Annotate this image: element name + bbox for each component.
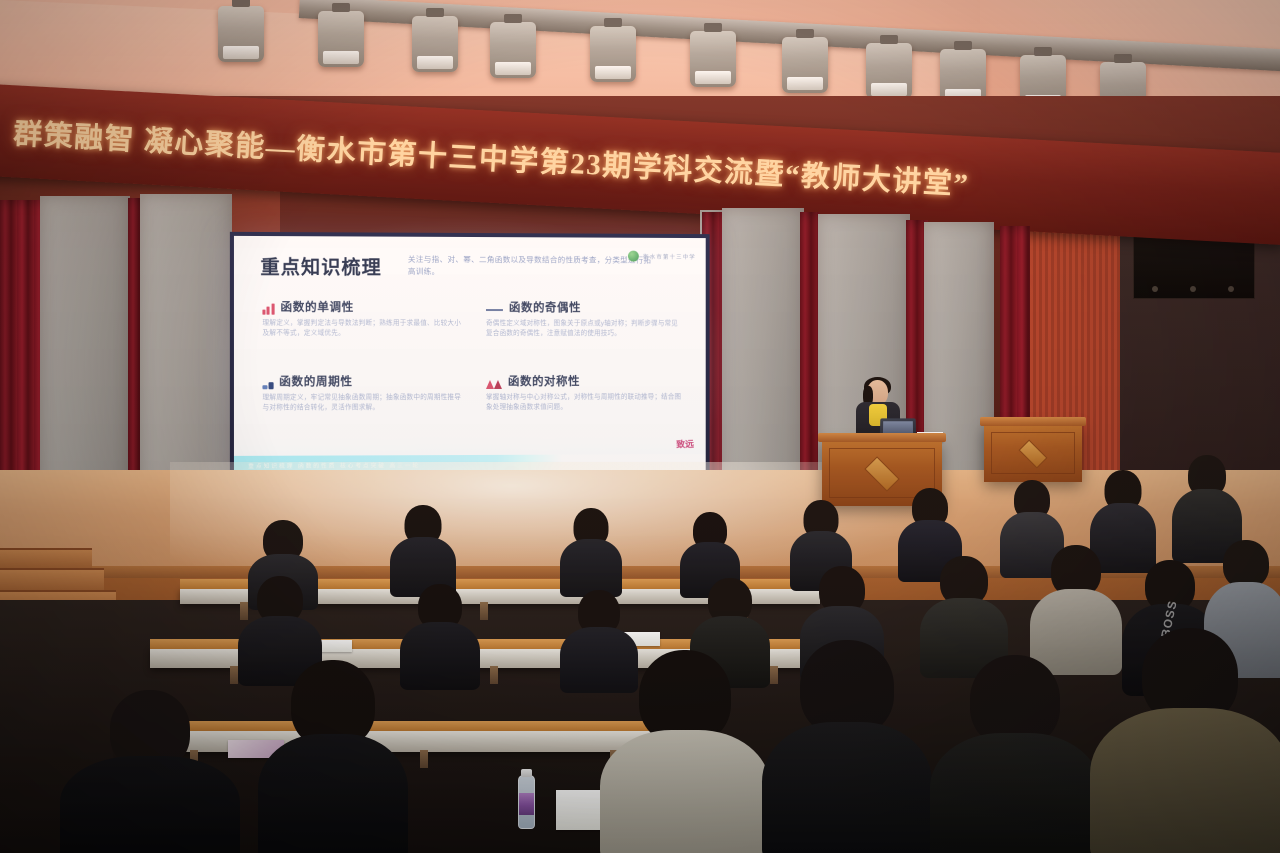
projection-screen: 重点知识梳理 关注与指、对、幂、二角函数以及导数结合的性质考查，分类型进行拓高训… xyxy=(230,232,710,482)
slide-section: 函数的对称性 掌握轴对称与中心对称公式，对称性与周期性的联动推导；结合图象处理抽… xyxy=(486,373,684,414)
presentation-slide: 重点知识梳理 关注与指、对、幂、二角函数以及导数结合的性质考查，分类型进行拓高训… xyxy=(234,236,706,478)
school-emblem-icon xyxy=(628,251,639,262)
slide-section: 函数的奇偶性 奇偶性定义域对称性，图象关于原点或y轴对称；判断步骤与常见复合函数… xyxy=(486,299,684,340)
section-body: 奇偶性定义域对称性，图象关于原点或y轴对称；判断步骤与常见复合函数的奇偶性，注意… xyxy=(486,319,684,340)
stage-light xyxy=(218,6,264,62)
acoustic-panel xyxy=(40,196,130,508)
audience-person xyxy=(400,584,480,680)
stage-light xyxy=(782,37,828,93)
slide-watermark: 致远 xyxy=(676,437,694,451)
stage-light xyxy=(690,31,736,87)
audience-person xyxy=(600,650,770,853)
audience-person xyxy=(60,690,240,853)
slide-title: 重点知识梳理 xyxy=(260,252,381,280)
audience-person xyxy=(390,505,456,591)
section-title: 函数的单调性 xyxy=(280,299,353,315)
audience-person xyxy=(762,640,932,853)
water-bottle xyxy=(518,775,535,829)
audience-person xyxy=(560,508,622,592)
stage-light xyxy=(412,16,458,72)
section-title: 函数的周期性 xyxy=(279,373,352,389)
acoustic-panel xyxy=(140,194,232,504)
audience-person xyxy=(930,655,1100,853)
stage-light xyxy=(590,26,636,82)
section-title: 函数的对称性 xyxy=(508,373,580,389)
slide-section: 函数的周期性 理解周期定义，牢记常见抽象函数周期；抽象函数中的周期性推导与对称性… xyxy=(262,373,464,414)
line-icon xyxy=(486,309,503,311)
slide-logo-label: 衡水市第十三中学 xyxy=(643,252,696,260)
triangles-icon xyxy=(486,378,502,389)
stage-light xyxy=(318,11,364,67)
squares-icon xyxy=(262,378,273,389)
slide-lead-text: 关注与指、对、幂、二角函数以及导数结合的性质考查，分类型进行拓高训练。 xyxy=(408,254,657,278)
section-body: 理解周期定义，牢记常见抽象函数周期；抽象函数中的周期性推导与对称性的结合转化，灵… xyxy=(262,393,464,414)
audience-person xyxy=(258,660,408,853)
bar-chart-icon xyxy=(262,304,274,315)
audience-person xyxy=(1090,628,1280,853)
audience-person xyxy=(920,556,1008,668)
section-title: 函数的奇偶性 xyxy=(509,299,581,315)
section-body: 掌握轴对称与中心对称公式，对称性与周期性的联动推导；结合图象处理抽象函数求值问题… xyxy=(486,393,684,414)
slide-logo: 衡水市第十三中学 xyxy=(628,251,696,262)
slide-section: 函数的单调性 理解定义，掌握判定法与导数法判断；熟练用于求最值、比较大小及解不等… xyxy=(262,299,464,340)
side-wooden-podium xyxy=(984,424,1082,482)
lecture-hall-photo: 群策融智 凝心聚能—衡水市第十三中学第23期学科交流暨“教师大讲堂” 重点知识梳… xyxy=(0,0,1280,853)
acoustic-panel xyxy=(722,208,804,498)
stage-light xyxy=(490,22,536,78)
stage-curtain xyxy=(800,212,820,494)
stage-light xyxy=(866,43,912,99)
section-body: 理解定义，掌握判定法与导数法判断；熟练用于求最值、比较大小及解不等式，定义域优先… xyxy=(262,319,464,340)
